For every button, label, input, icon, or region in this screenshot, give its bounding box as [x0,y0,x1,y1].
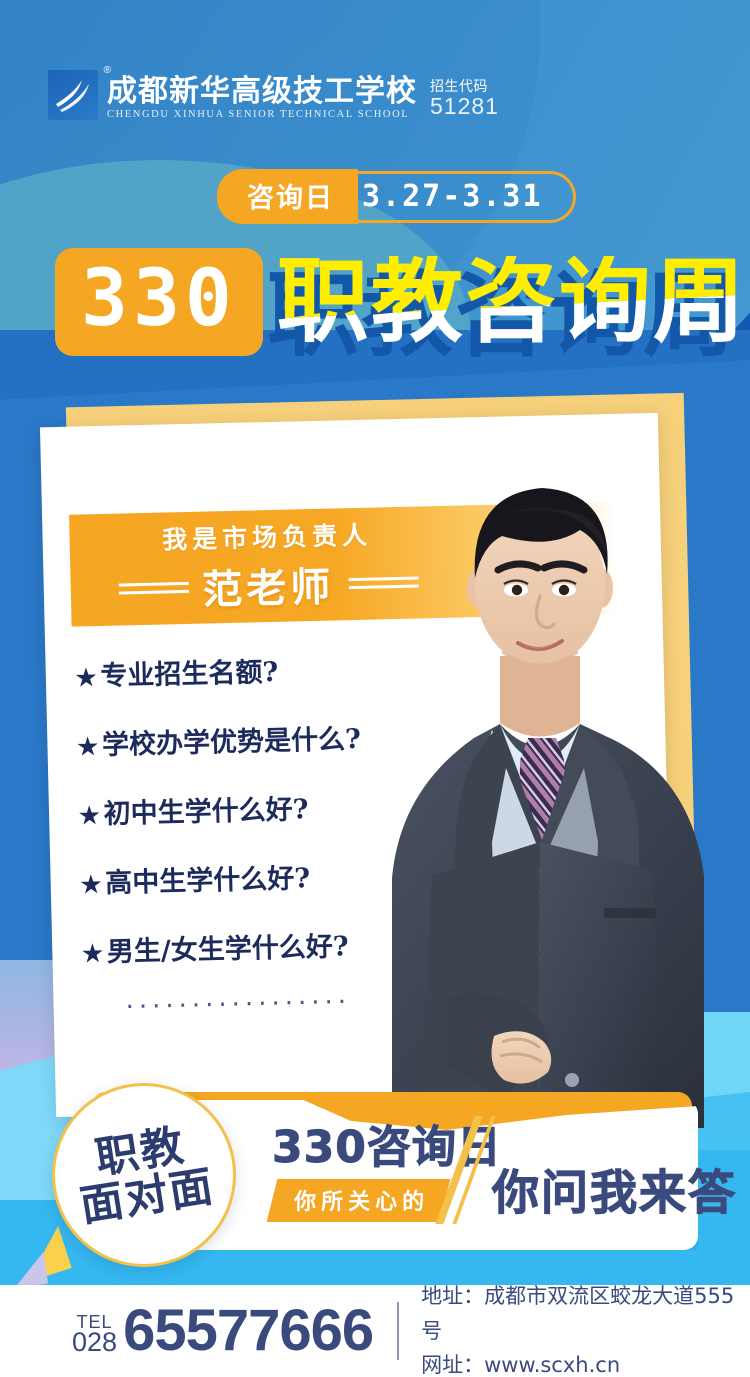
question-list: ★ 专业招生名额? ★ 学校办学优势是什么? ★ 初中生学什么好? ★ 高中生学… [75,645,484,1023]
bottom-banner-ask: 你问我来答 [492,1154,737,1223]
enrollment-code-value: 51281 [430,94,499,118]
question-text: 男生/女生学什么好? [106,924,349,969]
brand-name-cn: 成都新华高级技工学校 [107,77,417,107]
footer-tel-label: TEL 028 [72,1313,117,1360]
footer-address-row: 地址：成都市双流区蛟龙大道555号 [421,1279,750,1348]
list-item: ★ 高中生学什么好? [80,852,481,900]
footer-tel-number[interactable]: 65577666 [123,1302,373,1360]
main-title: 330 职教咨询周 职教咨询周 职教咨询周 [55,248,747,356]
consultation-date-bar: 咨询日 3.27-3.31 [217,169,576,224]
consultation-date-range: 3.27-3.31 [336,171,576,223]
brand-name-en: CHENGDU XINHUA SENIOR TECHNICAL SCHOOL [107,110,417,121]
star-icon: ★ [80,871,101,898]
question-text: 学校办学优势是什么? [102,717,362,762]
card-content: 我是市场负责人 范老师 ★ 专业招生名额? ★ 学校办学优势是什么? ★ 初中生… [40,413,674,1117]
footer-address-label: 地址： [421,1284,484,1308]
decor-line-right [348,576,418,589]
footer-website-row: 网址：www.scxh.cn [421,1348,750,1377]
star-icon: ★ [77,733,98,760]
registered-mark: ® [104,65,111,76]
list-item: ★ 初中生学什么好? [79,783,480,831]
bottom-banner: 职教 面对面 330咨询日 你所关心的 你问我来答 [0,1082,750,1282]
list-item: ★ 男生/女生学什么好? [82,921,483,969]
star-icon: ★ [82,940,103,967]
footer-website-value[interactable]: www.scxh.cn [484,1353,620,1377]
poster-root: ® 成都新华高级技工学校 CHENGDU XINHUA SENIOR TECHN… [0,0,750,1377]
footer-telephone: TEL 028 65577666 [72,1302,373,1360]
bottom-banner-subtag: 你所关心的 [267,1179,451,1222]
list-item: ★ 专业招生名额? [75,645,476,693]
footer-info-block: 地址：成都市双流区蛟龙大道555号 网址：www.scxh.cn [421,1279,750,1377]
teacher-name: 范老师 [202,554,335,615]
face-to-face-badge: 职教 面对面 [39,1070,250,1281]
tel-label-areacode: 028 [72,1329,117,1356]
enrollment-code-label: 招生代码 [430,79,499,94]
teacher-role-label: 我是市场负责人 [162,516,373,557]
footer-contact-bar: TEL 028 65577666 地址：成都市双流区蛟龙大道555号 网址：ww… [0,1285,750,1377]
question-text: 初中生学什么好? [103,787,309,831]
question-text: 专业招生名额? [100,650,279,693]
subtag-text: 你所关心的 [294,1184,429,1216]
teacher-name-banner: 我是市场负责人 范老师 [69,502,616,627]
title-number-330: 330 [55,248,263,356]
footer-website-label: 网址： [421,1353,484,1377]
teacher-name-row: 范老师 [118,553,419,618]
decor-line-left [118,581,188,594]
list-item: ★ 学校办学优势是什么? [77,714,478,762]
question-text: 高中生学什么好? [105,856,311,900]
title-text-block: 职教咨询周 职教咨询周 职教咨询周 [277,256,747,348]
swoosh-logo-icon: ® [48,70,98,120]
enrollment-code-block: 招生代码 51281 [430,79,499,120]
star-icon: ★ [79,802,100,829]
brand-name-block: 成都新华高级技工学校 CHENGDU XINHUA SENIOR TECHNIC… [107,77,417,121]
ellipsis-text: ················· [125,984,484,1022]
footer-divider [397,1302,399,1360]
star-icon: ★ [76,664,97,691]
brand-header: ® 成都新华高级技工学校 CHENGDU XINHUA SENIOR TECHN… [48,70,499,120]
